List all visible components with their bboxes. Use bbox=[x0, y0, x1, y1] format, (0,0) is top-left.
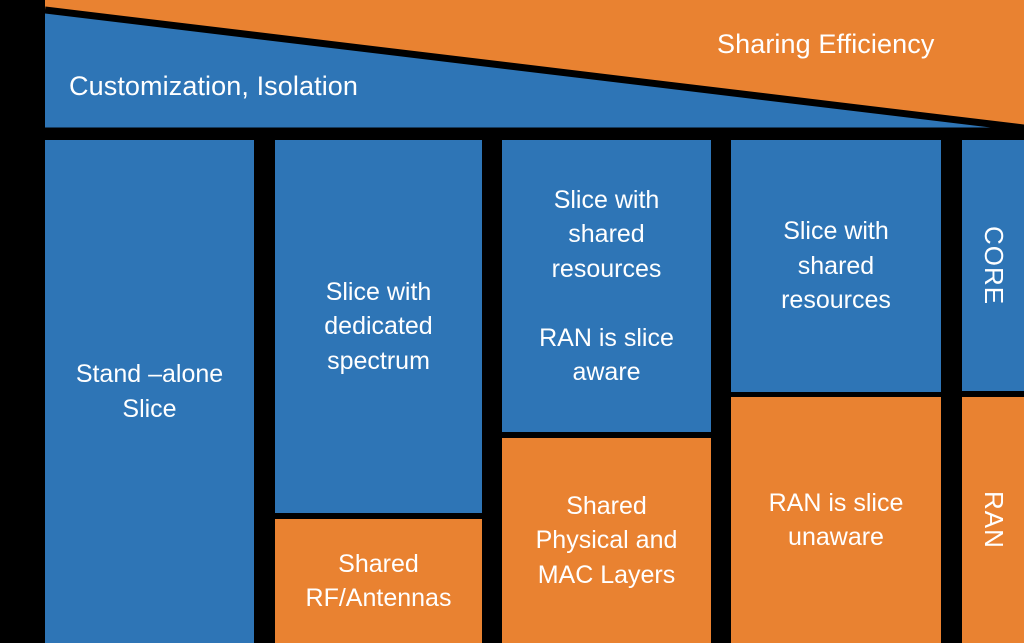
cell-slice-shared-resources-aware[interactable]: Slice with shared resources RAN is slice… bbox=[502, 140, 711, 432]
cell-core-domain[interactable]: CORE bbox=[962, 140, 1024, 391]
column-stand-alone-slice: Stand –alone Slice bbox=[45, 140, 254, 643]
cell-ran-is-slice-unaware[interactable]: RAN is slice unaware bbox=[731, 397, 941, 643]
cell-label: CORE bbox=[975, 226, 1011, 305]
banner-left-label: Customization, Isolation bbox=[69, 72, 358, 102]
cell-label: Stand –alone Slice bbox=[76, 357, 223, 426]
cell-label: Shared Physical and MAC Layers bbox=[536, 489, 678, 593]
cell-slice-shared-resources-unaware[interactable]: Slice with shared resources bbox=[731, 140, 941, 392]
cell-stand-alone-slice[interactable]: Stand –alone Slice bbox=[45, 140, 254, 643]
cell-label: Slice with shared resources RAN is slice… bbox=[539, 183, 674, 390]
cell-label: Shared RF/Antennas bbox=[306, 547, 452, 616]
cell-ran-domain[interactable]: RAN bbox=[962, 397, 1024, 643]
column-dedicated-spectrum: Slice with dedicated spectrum Shared RF/… bbox=[275, 140, 482, 643]
cell-shared-rf-antennas[interactable]: Shared RF/Antennas bbox=[275, 519, 482, 643]
cell-label: Slice with shared resources bbox=[781, 214, 891, 318]
banner-shape bbox=[45, 0, 1024, 134]
cell-label: Slice with dedicated spectrum bbox=[324, 275, 432, 379]
sharing-isolation-banner: Customization, Isolation Sharing Efficie… bbox=[45, 0, 1024, 134]
cell-label: RAN bbox=[975, 491, 1011, 549]
cell-shared-physical-mac-layers[interactable]: Shared Physical and MAC Layers bbox=[502, 438, 711, 643]
banner-right-label: Sharing Efficiency bbox=[717, 30, 934, 60]
cell-label: RAN is slice unaware bbox=[769, 486, 904, 555]
diagram-canvas: Customization, Isolation Sharing Efficie… bbox=[0, 0, 1024, 643]
column-network-domain-legend: CORE RAN bbox=[962, 140, 1024, 643]
column-slice-unaware-ran: Slice with shared resources RAN is slice… bbox=[731, 140, 941, 643]
cell-slice-dedicated-spectrum[interactable]: Slice with dedicated spectrum bbox=[275, 140, 482, 513]
column-slice-aware-ran: Slice with shared resources RAN is slice… bbox=[502, 140, 711, 643]
